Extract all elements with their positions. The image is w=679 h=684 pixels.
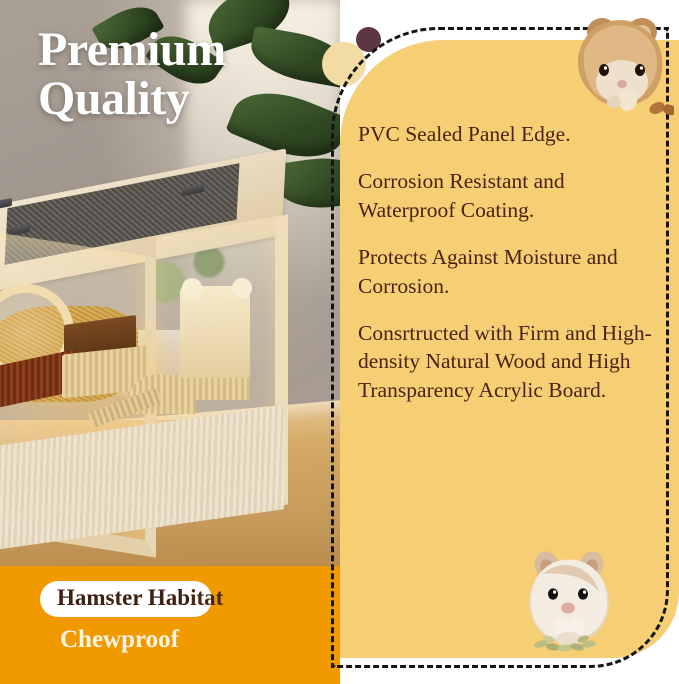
- banner-subtitle: Chewproof: [60, 626, 179, 654]
- feature-item: PVC Sealed Panel Edge.: [358, 120, 666, 148]
- brown-circle-decoration: [356, 27, 381, 52]
- house-ear-left: [182, 278, 202, 298]
- banner-title-main: Hamster Hab: [57, 585, 190, 610]
- feature-item: Consrtructed with Firm and High-density …: [358, 319, 666, 404]
- brown-hamster-eating-icon: [562, 8, 674, 118]
- hamster-cage: [0, 178, 300, 564]
- headline-line-2: Quality: [38, 75, 338, 124]
- product-infographic: Premium Quality PVC Sealed Panel Edge. C…: [0, 0, 679, 684]
- hamster-house: [180, 286, 250, 378]
- banner-title-tail: itat: [190, 585, 223, 610]
- headline: Premium Quality: [38, 26, 338, 124]
- house-ear-right: [232, 278, 252, 298]
- feature-item: Protects Against Moisture and Corrosion.: [358, 243, 666, 300]
- feature-item: Corrosion Resistant and Waterproof Coati…: [358, 167, 666, 224]
- banner-title: Hamster Habitat: [57, 585, 223, 611]
- white-hamster-eating-seeds-icon: [517, 540, 621, 652]
- feature-list: PVC Sealed Panel Edge. Corrosion Resista…: [358, 120, 666, 404]
- headline-line-1: Premium: [38, 26, 338, 75]
